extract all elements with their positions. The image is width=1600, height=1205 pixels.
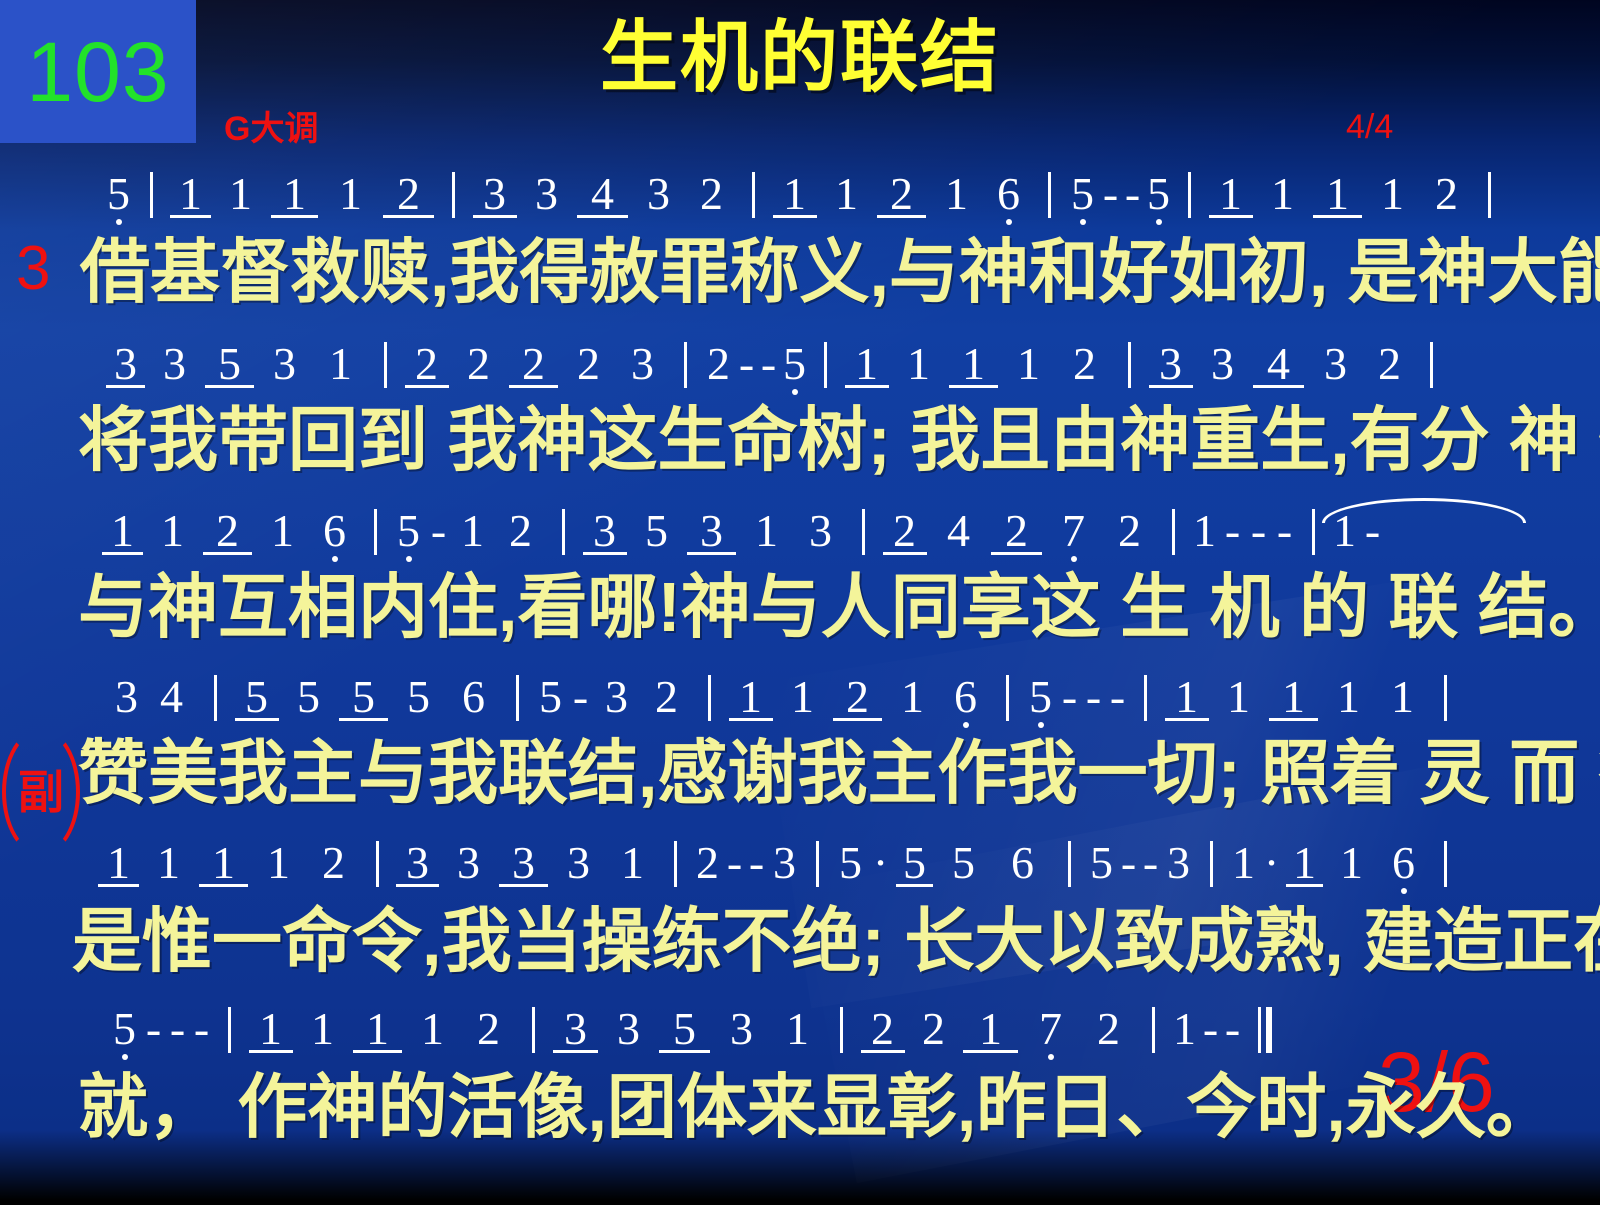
key-signature-label: G大调 (224, 112, 318, 146)
score-system-5: 11112 33331 2--3 5·556 5--3 1·116 是惟一命令,… (0, 832, 1600, 980)
page-title: 生机的联结 (0, 18, 1600, 96)
notation-row-5: 11112 33331 2--3 5·556 5--3 1·116 (0, 832, 1600, 894)
lyrics-line-2: 将我带回到 我神这生命树; 我且由神重生,有分 神 性情, (78, 397, 1600, 483)
lyrics-line-4: 赞美我主与我联结,感谢我主作我一切; 照着 灵 而 行, (78, 730, 1600, 816)
notation-row-1: 5 11112 33432 11216 5--5 11112 (0, 163, 1600, 225)
score-system-4: 34 55556 5-32 11216 5--- 11111 赞美我主与我联结,… (0, 666, 1600, 814)
score-system-6: 5--- 11112 33531 22172 1-- 就， 作神的活像,团体来显… (0, 998, 1600, 1146)
score-system-2: 33531 22223 2--5 11112 33432 将我带回到 我神这生命… (0, 333, 1600, 481)
lyrics-line-6: 就， 作神的活像,团体来显彰,昨日、今时,永久。 (78, 1064, 1600, 1150)
hymn-slide: 103 生机的联结 G大调 4/4 3 副 3/6 5 11112 33432 … (0, 0, 1600, 1205)
notation-row-2: 33531 22223 2--5 11112 33432 (0, 333, 1600, 395)
score-system-3: 11216 5-12 35313 24272 1--- 1- 与神互相内住,看哪… (0, 500, 1600, 648)
notation-row-6: 5--- 11112 33531 22172 1-- (0, 998, 1600, 1060)
lyrics-line-5: 是惟一命令,我当操练不绝; 长大以致成熟, 建造正在成 (72, 898, 1600, 984)
score-system-1: 5 11112 33432 11216 5--5 11112 借基督救赎,我得赦… (0, 163, 1600, 311)
notation-row-4: 34 55556 5-32 11216 5--- 11111 (0, 666, 1600, 728)
time-signature-label: 4/4 (1346, 110, 1393, 144)
notation-row-3: 11216 5-12 35313 24272 1--- 1- (0, 500, 1600, 562)
lyrics-line-3: 与神互相内住,看哪!神与人同享这 生 机 的 联 结。 (78, 564, 1600, 650)
lyrics-line-1: 借基督救赎,我得赦罪称义,与神和好如初, 是神大能救恩, (80, 229, 1600, 315)
